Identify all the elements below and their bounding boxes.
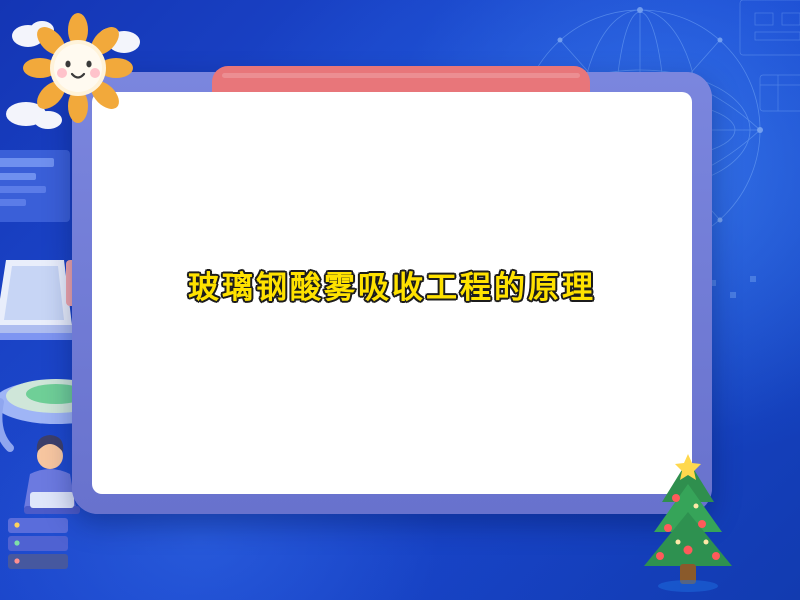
page-title: 玻璃钢酸雾吸收工程的原理: [92, 262, 692, 307]
sunflower-icon: [6, 6, 156, 136]
christmas-tree-icon: [618, 454, 758, 594]
slide-canvas: 玻璃钢酸雾吸收工程的原理: [0, 0, 800, 600]
